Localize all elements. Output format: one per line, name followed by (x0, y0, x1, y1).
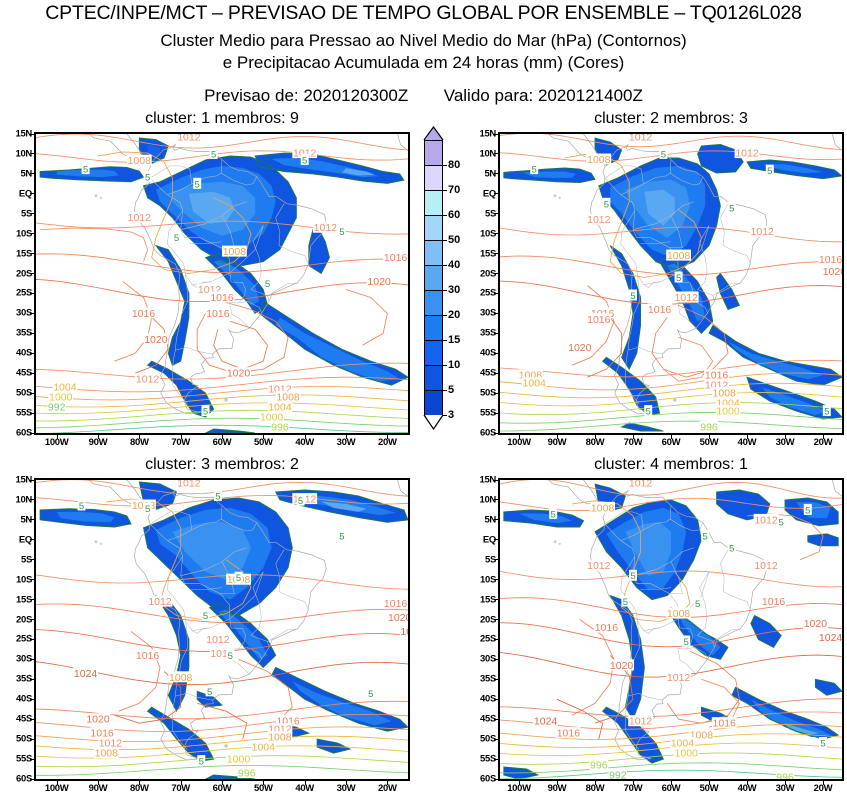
svg-text:1016: 1016 (210, 292, 234, 304)
svg-text:1020: 1020 (367, 276, 391, 288)
svg-text:1020: 1020 (144, 334, 168, 346)
colorbar-band (425, 391, 442, 416)
y-axis-tick (494, 559, 499, 560)
y-axis-label: 50S (466, 734, 496, 745)
svg-text:1012: 1012 (675, 292, 699, 304)
colorbar-tick-label: 10 (448, 359, 460, 371)
y-axis-label: 60S (2, 774, 32, 785)
panel-title-cluster-2: cluster: 2 membros: 3 (498, 110, 844, 128)
y-axis-label: 55S (466, 408, 496, 419)
panel-title-cluster-1: cluster: 1 membros: 9 (34, 110, 410, 128)
y-axis-tick (494, 353, 499, 354)
svg-text:1000: 1000 (675, 748, 699, 760)
y-axis-tick (494, 373, 499, 374)
x-axis-tick (181, 780, 182, 785)
y-axis-tick (494, 313, 499, 314)
x-axis-tick (595, 780, 596, 785)
x-axis-tick (519, 780, 520, 785)
y-axis-tick (494, 719, 499, 720)
y-axis-label: 20S (2, 268, 32, 279)
svg-text:1004: 1004 (252, 742, 276, 754)
svg-text:1008: 1008 (223, 246, 247, 258)
y-axis-label: 60S (466, 774, 496, 785)
svg-text:5: 5 (195, 179, 200, 190)
y-axis-tick (30, 759, 35, 760)
y-axis-tick (494, 480, 499, 481)
y-axis-label: 40S (2, 348, 32, 359)
y-axis-label: EQ (2, 188, 32, 199)
colorbar-band (425, 191, 442, 216)
svg-text:1020: 1020 (86, 714, 110, 726)
svg-text:1012: 1012 (177, 134, 201, 144)
svg-text:1012: 1012 (148, 596, 172, 608)
y-axis-label: 25S (466, 288, 496, 299)
y-axis-tick (30, 619, 35, 620)
svg-text:996: 996 (271, 422, 289, 434)
y-axis-tick (30, 559, 35, 560)
colorbar-band (425, 291, 442, 316)
y-axis-tick (30, 639, 35, 640)
svg-text:5: 5 (207, 687, 212, 698)
y-axis-label: 5N (2, 168, 32, 179)
colorbar-over-arrow (425, 127, 443, 140)
y-axis-label: 15N (466, 475, 496, 486)
y-axis-tick (30, 233, 35, 234)
panel-title-cluster-3: cluster: 3 membros: 2 (34, 456, 410, 474)
y-axis-label: 55S (2, 408, 32, 419)
y-axis-tick (494, 779, 499, 780)
colorbar-tick (443, 240, 447, 241)
subtitle-line-1: Cluster Medio para Pressao ao Nivel Medi… (0, 31, 847, 51)
y-axis-label: 30S (2, 308, 32, 319)
x-axis-tick (181, 434, 182, 439)
y-axis-tick (30, 679, 35, 680)
y-axis-label: 45S (466, 368, 496, 379)
forecast-info: Previsao de: 2020120300Z Valido para: 20… (0, 86, 847, 106)
svg-text:1012: 1012 (754, 560, 778, 572)
colorbar-tick (443, 265, 447, 266)
y-axis-tick (30, 213, 35, 214)
y-axis-tick (30, 739, 35, 740)
y-axis-tick (494, 579, 499, 580)
x-axis-tick (747, 780, 748, 785)
svg-text:996: 996 (700, 422, 718, 434)
svg-text:1012: 1012 (751, 226, 775, 238)
y-axis-label: 15N (466, 129, 496, 140)
y-axis-tick (30, 253, 35, 254)
x-axis-tick (263, 434, 264, 439)
svg-text:1016: 1016 (713, 718, 737, 730)
colorbar-tick (443, 340, 447, 341)
colorbar-tick-label: 15 (448, 334, 460, 346)
panel-title-cluster-4: cluster: 4 membros: 1 (498, 456, 844, 474)
y-axis-tick (30, 433, 35, 434)
svg-text:5: 5 (630, 571, 635, 582)
svg-text:1024: 1024 (400, 626, 408, 638)
x-axis-tick (595, 434, 596, 439)
colorbar-tick-label: 3 (448, 409, 454, 421)
svg-text:1000: 1000 (716, 406, 740, 418)
svg-text:5: 5 (211, 149, 216, 160)
svg-text:5: 5 (79, 501, 84, 512)
svg-text:5: 5 (298, 496, 303, 507)
svg-text:1016: 1016 (384, 598, 408, 610)
colorbar-tick-label: 30 (448, 284, 460, 296)
y-axis-tick (494, 699, 499, 700)
x-axis-tick (633, 780, 634, 785)
svg-text:5: 5 (820, 739, 825, 750)
y-axis-label: 5N (2, 514, 32, 525)
colorbar-tick (443, 415, 447, 416)
x-axis-tick (633, 434, 634, 439)
y-axis-tick (30, 373, 35, 374)
y-axis-tick (494, 134, 499, 135)
svg-text:1024: 1024 (534, 716, 558, 728)
svg-text:5: 5 (604, 199, 609, 210)
svg-text:1016: 1016 (595, 622, 619, 634)
x-axis-tick (139, 780, 140, 785)
y-axis-label: 30S (2, 654, 32, 665)
y-axis-tick (494, 293, 499, 294)
colorbar-tick (443, 315, 447, 316)
y-axis-label: 15S (466, 594, 496, 605)
y-axis-label: 20S (466, 268, 496, 279)
svg-text:1012: 1012 (314, 222, 338, 234)
colorbar-tick (443, 290, 447, 291)
colorbar-tick-label: 20 (448, 309, 460, 321)
svg-text:1020: 1020 (568, 342, 592, 354)
svg-text:5: 5 (145, 504, 150, 515)
forecast-from: Previsao de: 2020120300Z (204, 86, 408, 106)
svg-text:1000: 1000 (227, 754, 251, 766)
y-axis-label: 10S (466, 228, 496, 239)
svg-text:1016: 1016 (132, 308, 156, 320)
y-axis-label: EQ (466, 188, 496, 199)
y-axis-tick (30, 579, 35, 580)
map-cluster-2[interactable]: 1012101210081012101210161008102010161016… (498, 132, 844, 435)
svg-text:1012: 1012 (629, 716, 653, 728)
svg-text:5: 5 (203, 611, 208, 622)
y-axis-tick (30, 719, 35, 720)
svg-text:992: 992 (48, 402, 66, 414)
x-axis-tick (387, 780, 388, 785)
x-axis-tick (346, 434, 347, 439)
x-axis-tick (139, 434, 140, 439)
subtitle-line-2: e Precipitacao Acumulada em 24 horas (mm… (0, 53, 847, 73)
colorbar-bands (424, 140, 443, 415)
svg-text:1008: 1008 (667, 250, 691, 262)
svg-text:5: 5 (676, 273, 681, 284)
y-axis-label: 35S (466, 674, 496, 685)
y-axis-tick (30, 519, 35, 520)
x-axis-tick (222, 780, 223, 785)
svg-text:1004: 1004 (523, 378, 547, 390)
y-axis-label: 40S (466, 348, 496, 359)
y-axis-label: 5S (2, 554, 32, 565)
svg-text:5: 5 (339, 531, 344, 542)
precipitation-colorbar: 35101520304050607080 (424, 140, 443, 415)
colorbar-tick-label: 50 (448, 234, 460, 246)
colorbar-band (425, 341, 442, 366)
map-canvas: 1012101210081012101210161008101210161020… (36, 134, 408, 433)
y-axis-tick (494, 433, 499, 434)
y-axis-label: 50S (466, 388, 496, 399)
y-axis-label: 15N (2, 475, 32, 486)
y-axis-tick (30, 393, 35, 394)
valid-for: Valido para: 2020121400Z (444, 86, 643, 106)
y-axis-label: 45S (2, 368, 32, 379)
svg-text:1024: 1024 (74, 668, 98, 680)
svg-text:1016: 1016 (384, 252, 408, 264)
x-axis-tick (557, 434, 558, 439)
map-cluster-4[interactable]: 1012101210081012101210161008101610201024… (498, 478, 844, 781)
svg-text:1008: 1008 (587, 154, 611, 166)
svg-text:1020: 1020 (823, 266, 842, 278)
y-axis-tick (30, 499, 35, 500)
y-axis-tick (494, 233, 499, 234)
map-canvas: 1012101210081012101210161008101610201024… (500, 480, 842, 779)
y-axis-label: 55S (2, 754, 32, 765)
svg-text:1008: 1008 (169, 672, 193, 684)
svg-text:5: 5 (532, 165, 537, 176)
svg-text:1012: 1012 (587, 214, 611, 226)
svg-text:1016: 1016 (136, 650, 160, 662)
y-axis-tick (494, 679, 499, 680)
svg-text:1012: 1012 (629, 134, 653, 144)
x-axis-tick (263, 780, 264, 785)
y-axis-tick (494, 519, 499, 520)
colorbar-tick-label: 80 (448, 159, 460, 171)
svg-text:5: 5 (145, 173, 150, 184)
svg-text:996: 996 (776, 772, 794, 780)
svg-text:5: 5 (729, 203, 734, 214)
y-axis-tick (494, 273, 499, 274)
y-axis-label: 50S (2, 388, 32, 399)
svg-text:1012: 1012 (206, 634, 230, 646)
x-axis-tick (747, 434, 748, 439)
colorbar-tick (443, 165, 447, 166)
svg-text:996: 996 (590, 760, 608, 772)
y-axis-tick (494, 333, 499, 334)
colorbar-tick-label: 60 (448, 209, 460, 221)
y-axis-label: 40S (2, 694, 32, 705)
svg-text:5: 5 (174, 233, 179, 244)
y-axis-tick (30, 333, 35, 334)
colorbar-tick (443, 190, 447, 191)
y-axis-label: 50S (2, 734, 32, 745)
svg-text:1012: 1012 (754, 514, 778, 526)
y-axis-tick (30, 273, 35, 274)
page-title: CPTEC/INPE/MCT – PREVISAO DE TEMPO GLOBA… (0, 2, 847, 25)
y-axis-tick (494, 213, 499, 214)
colorbar-tick-label: 70 (448, 184, 460, 196)
y-axis-label: 15S (466, 248, 496, 259)
svg-text:5: 5 (779, 517, 784, 528)
svg-text:5: 5 (695, 599, 700, 610)
svg-text:5: 5 (703, 531, 708, 542)
svg-text:5: 5 (228, 651, 233, 662)
svg-text:1012: 1012 (177, 480, 201, 490)
y-axis-tick (494, 413, 499, 414)
svg-text:1016: 1016 (762, 596, 786, 608)
colorbar-tick-label: 5 (448, 384, 454, 396)
y-axis-label: 25S (2, 288, 32, 299)
y-axis-tick (494, 393, 499, 394)
y-axis-tick (30, 153, 35, 154)
svg-text:5: 5 (203, 407, 208, 418)
y-axis-tick (494, 739, 499, 740)
y-axis-label: 25S (2, 634, 32, 645)
x-axis-tick (671, 434, 672, 439)
svg-text:1020: 1020 (227, 368, 251, 380)
y-axis-label: 30S (466, 308, 496, 319)
svg-text:5: 5 (623, 597, 628, 608)
y-axis-label: 15N (2, 129, 32, 140)
map-cluster-1[interactable]: 1012101210081012101210161008101210161020… (34, 132, 410, 435)
colorbar-band (425, 241, 442, 266)
svg-text:1012: 1012 (735, 148, 759, 160)
x-axis-tick (823, 780, 824, 785)
svg-text:1016: 1016 (557, 728, 581, 740)
y-axis-tick (494, 619, 499, 620)
x-axis-tick (823, 434, 824, 439)
y-axis-label: EQ (466, 534, 496, 545)
y-axis-label: 10N (466, 148, 496, 159)
y-axis-tick (30, 779, 35, 780)
colorbar-tick (443, 390, 447, 391)
y-axis-label: 25S (466, 634, 496, 645)
y-axis-label: 10S (466, 574, 496, 585)
y-axis-label: 45S (466, 714, 496, 725)
y-axis-label: 60S (466, 428, 496, 439)
y-axis-label: 60S (2, 428, 32, 439)
x-axis-tick (709, 780, 710, 785)
colorbar-under-arrow (425, 415, 443, 428)
y-axis-label: 10S (2, 574, 32, 585)
svg-text:1012: 1012 (136, 374, 160, 386)
colorbar-band (425, 216, 442, 241)
x-axis-tick (671, 780, 672, 785)
svg-text:5: 5 (767, 166, 772, 177)
svg-text:5: 5 (805, 505, 810, 516)
y-axis-tick (494, 539, 499, 540)
y-axis-tick (30, 173, 35, 174)
x-axis-tick (57, 780, 58, 785)
svg-text:1024: 1024 (819, 632, 842, 644)
y-axis-label: 30S (466, 654, 496, 665)
y-axis-label: 10N (2, 148, 32, 159)
x-axis-tick (519, 434, 520, 439)
y-axis-label: 45S (2, 714, 32, 725)
y-axis-tick (30, 134, 35, 135)
y-axis-label: 5S (2, 208, 32, 219)
svg-text:1020: 1020 (388, 612, 408, 624)
y-axis-tick (30, 699, 35, 700)
svg-text:1008: 1008 (132, 500, 156, 512)
x-axis-tick (785, 780, 786, 785)
svg-text:5: 5 (83, 165, 88, 176)
y-axis-label: 5N (466, 514, 496, 525)
x-axis-tick (709, 434, 710, 439)
map-cluster-3[interactable]: 1012101210081012100810161020102410161012… (34, 478, 410, 781)
y-axis-tick (494, 599, 499, 600)
y-axis-label: 15S (2, 594, 32, 605)
x-axis-tick (305, 780, 306, 785)
svg-text:1016: 1016 (648, 304, 672, 316)
y-axis-tick (30, 193, 35, 194)
svg-text:1012: 1012 (629, 480, 653, 490)
svg-text:5: 5 (368, 689, 373, 700)
y-axis-tick (30, 413, 35, 414)
x-axis-tick (785, 434, 786, 439)
svg-text:1008: 1008 (591, 502, 615, 514)
x-axis-tick (98, 780, 99, 785)
y-axis-label: 35S (2, 328, 32, 339)
y-axis-label: 5S (466, 554, 496, 565)
svg-text:1008: 1008 (128, 155, 152, 167)
svg-text:992: 992 (609, 770, 627, 780)
svg-text:5: 5 (824, 407, 829, 418)
svg-text:1020: 1020 (610, 660, 634, 672)
y-axis-tick (494, 659, 499, 660)
x-axis-tick (222, 434, 223, 439)
x-axis-tick (557, 780, 558, 785)
svg-text:5: 5 (339, 227, 344, 238)
colorbar-band (425, 266, 442, 291)
y-axis-label: EQ (2, 534, 32, 545)
y-axis-tick (494, 759, 499, 760)
y-axis-tick (30, 659, 35, 660)
svg-text:5: 5 (302, 155, 307, 166)
y-axis-label: 20S (2, 614, 32, 625)
svg-text:1020: 1020 (804, 618, 828, 630)
y-axis-label: 20S (466, 614, 496, 625)
svg-text:1008: 1008 (667, 608, 691, 620)
y-axis-tick (494, 499, 499, 500)
x-axis-tick (305, 434, 306, 439)
svg-text:1008: 1008 (95, 748, 119, 760)
y-axis-tick (494, 193, 499, 194)
y-axis-label: 10S (2, 228, 32, 239)
y-axis-tick (30, 480, 35, 481)
svg-text:5: 5 (661, 149, 666, 160)
svg-text:1016: 1016 (206, 308, 230, 320)
map-canvas: 1012101210081012100810161020102410161012… (36, 480, 408, 779)
svg-text:5: 5 (215, 491, 220, 502)
y-axis-tick (30, 599, 35, 600)
x-axis-tick (387, 434, 388, 439)
y-axis-label: 55S (466, 754, 496, 765)
y-axis-label: 15S (2, 248, 32, 259)
colorbar-band (425, 366, 442, 391)
y-axis-label: 10N (466, 494, 496, 505)
svg-text:996: 996 (238, 768, 256, 780)
svg-text:5: 5 (236, 573, 241, 584)
colorbar-band (425, 166, 442, 191)
svg-text:1012: 1012 (587, 560, 611, 572)
svg-text:5: 5 (684, 637, 689, 648)
svg-text:5: 5 (265, 279, 270, 290)
svg-text:5: 5 (646, 407, 651, 418)
y-axis-label: 10N (2, 494, 32, 505)
y-axis-label: 5S (466, 208, 496, 219)
colorbar-band (425, 316, 442, 341)
y-axis-tick (494, 173, 499, 174)
colorbar-band (425, 141, 442, 166)
svg-text:1012: 1012 (128, 212, 152, 224)
colorbar-tick (443, 365, 447, 366)
y-axis-tick (494, 253, 499, 254)
